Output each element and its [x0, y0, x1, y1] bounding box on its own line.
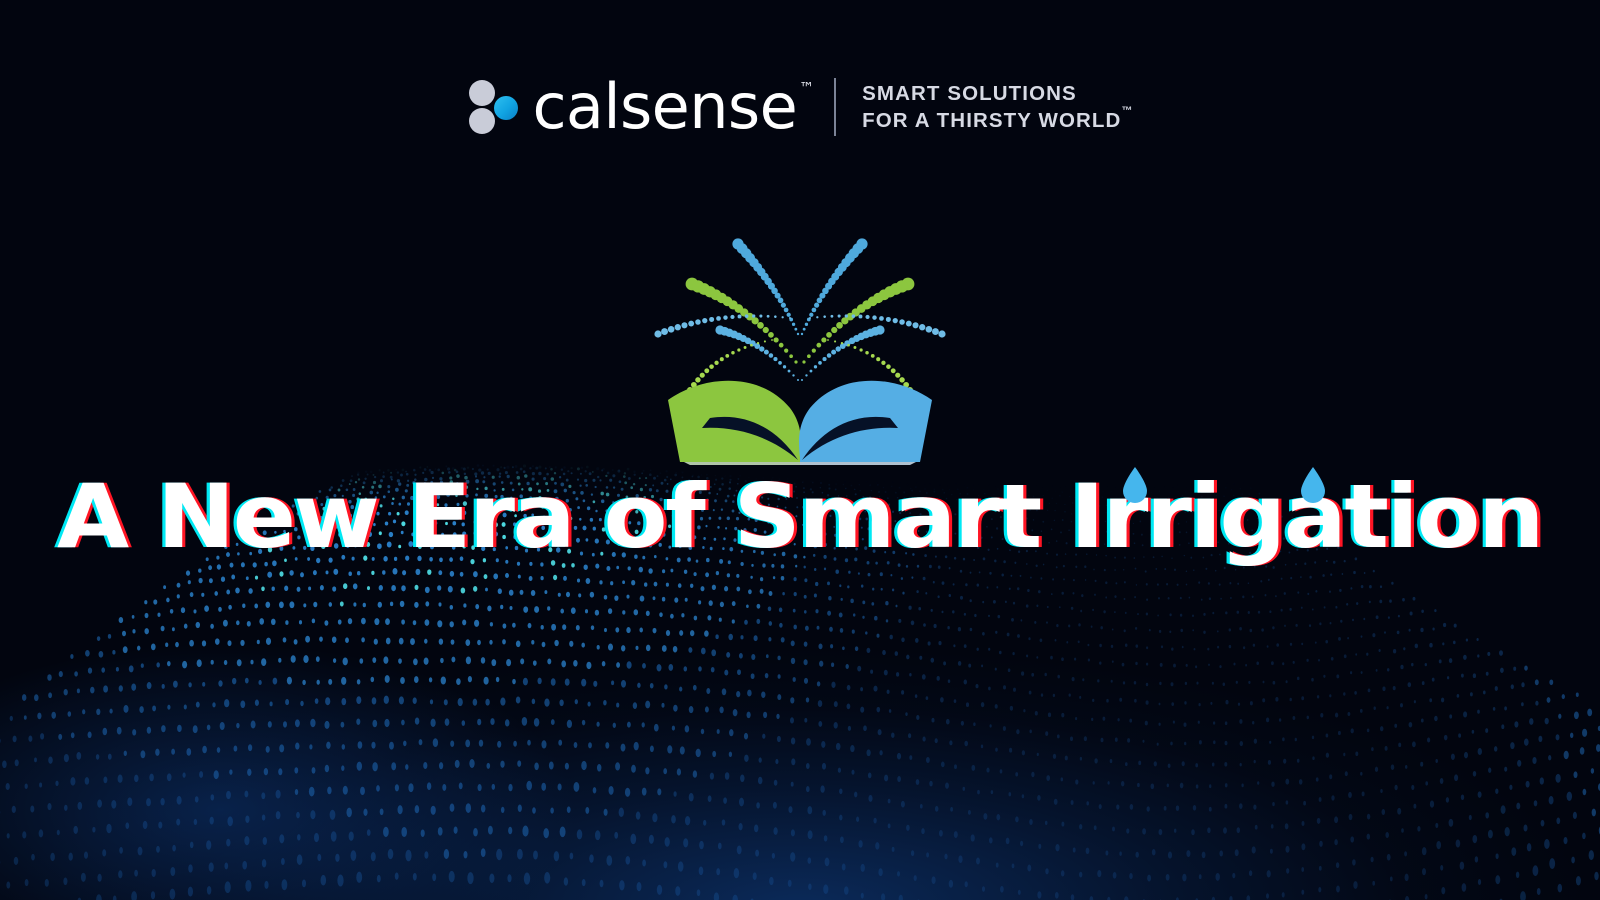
logo-divider	[834, 78, 836, 136]
brand-wordmark-text: calsense	[532, 70, 797, 143]
brand-logo-lockup: calsense™ SMART SOLUTIONS FOR A THIRSTY …	[0, 78, 1600, 136]
sprinkler-leaves-emblem	[650, 222, 950, 472]
hero-headline-wrap: A New Era of Smart Irrigation	[0, 462, 1600, 572]
calsense-dot-mark	[466, 79, 518, 135]
tagline-line-1: SMART SOLUTIONS	[862, 80, 1133, 107]
tagline-line-2-text: FOR A THIRSTY WORLD	[862, 109, 1121, 132]
tagline-line-2: FOR A THIRSTY WORLD™	[862, 107, 1133, 134]
spray-arcs	[654, 238, 945, 393]
page-title: A New Era of Smart Irrigation	[57, 473, 1542, 561]
tagline-tm: ™	[1121, 105, 1133, 117]
leaf-shapes	[668, 381, 932, 465]
brand-tagline: SMART SOLUTIONS FOR A THIRSTY WORLD™	[862, 80, 1133, 134]
hero-slide: calsense™ SMART SOLUTIONS FOR A THIRSTY …	[0, 0, 1600, 900]
brand-wordmark: calsense™	[532, 78, 812, 135]
brand-wordmark-tm: ™	[799, 79, 814, 97]
